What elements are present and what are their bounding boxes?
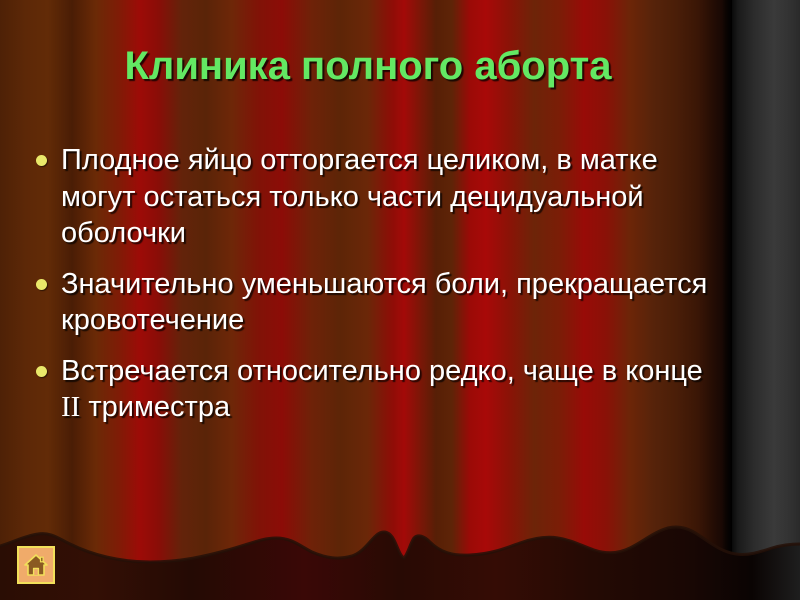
bullet-text: Встречается относительно редко, чаще в к…	[61, 353, 726, 426]
presentation-slide: Клиника полного аборта Плодное яйцо отто…	[0, 0, 800, 600]
bullet-text: Плодное яйцо отторгается целиком, в матк…	[61, 142, 726, 252]
bullet-dot-icon	[36, 155, 47, 166]
list-item: Встречается относительно редко, чаще в к…	[36, 353, 726, 426]
list-item: Значительно уменьшаются боли, прекращает…	[36, 266, 726, 339]
bullet-list: Плодное яйцо отторгается целиком, в матк…	[36, 142, 726, 440]
bullet-dot-icon	[36, 279, 47, 290]
list-item: Плодное яйцо отторгается целиком, в матк…	[36, 142, 726, 252]
home-button[interactable]	[17, 546, 55, 584]
bullet-text: Значительно уменьшаются боли, прекращает…	[61, 266, 726, 339]
slide-title: Клиника полного аборта	[0, 44, 736, 88]
bullet-dot-icon	[36, 366, 47, 377]
home-icon	[23, 553, 49, 577]
curtain-hem-wave	[0, 510, 800, 600]
